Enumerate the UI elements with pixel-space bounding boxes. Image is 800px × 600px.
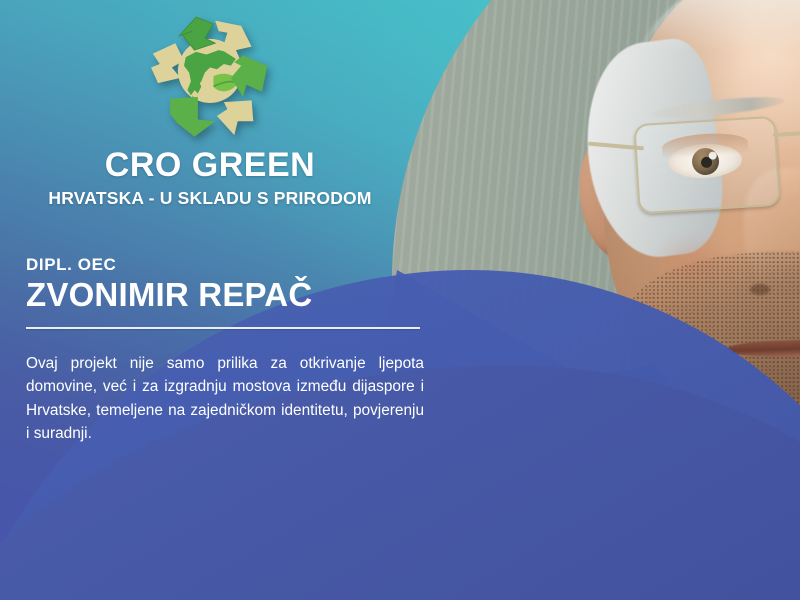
speaker-promo-card: CRO GREEN HRVATSKA - U SKLADU S PRIRODOM… (0, 0, 800, 600)
brand-subtitle: HRVATSKA - U SKLADU S PRIRODOM (0, 188, 420, 209)
brand-lockup: CRO GREEN HRVATSKA - U SKLADU S PRIRODOM (0, 12, 420, 209)
speaker-quote: Ovaj projekt nije samo prilika za otkriv… (26, 352, 424, 446)
brand-title: CRO GREEN (0, 148, 420, 183)
eyeglass-lens-left (633, 116, 780, 215)
speaker-name: ZVONIMIR REPAČ (26, 277, 426, 313)
text-column: CRO GREEN HRVATSKA - U SKLADU S PRIRODOM… (0, 0, 455, 600)
divider-rule (26, 327, 420, 329)
speaker-name-block: DIPL. OEC ZVONIMIR REPAČ (26, 255, 426, 329)
speaker-degree: DIPL. OEC (26, 255, 426, 275)
eyeglass-bridge (773, 131, 800, 137)
recycling-symbol-icon (139, 12, 281, 142)
